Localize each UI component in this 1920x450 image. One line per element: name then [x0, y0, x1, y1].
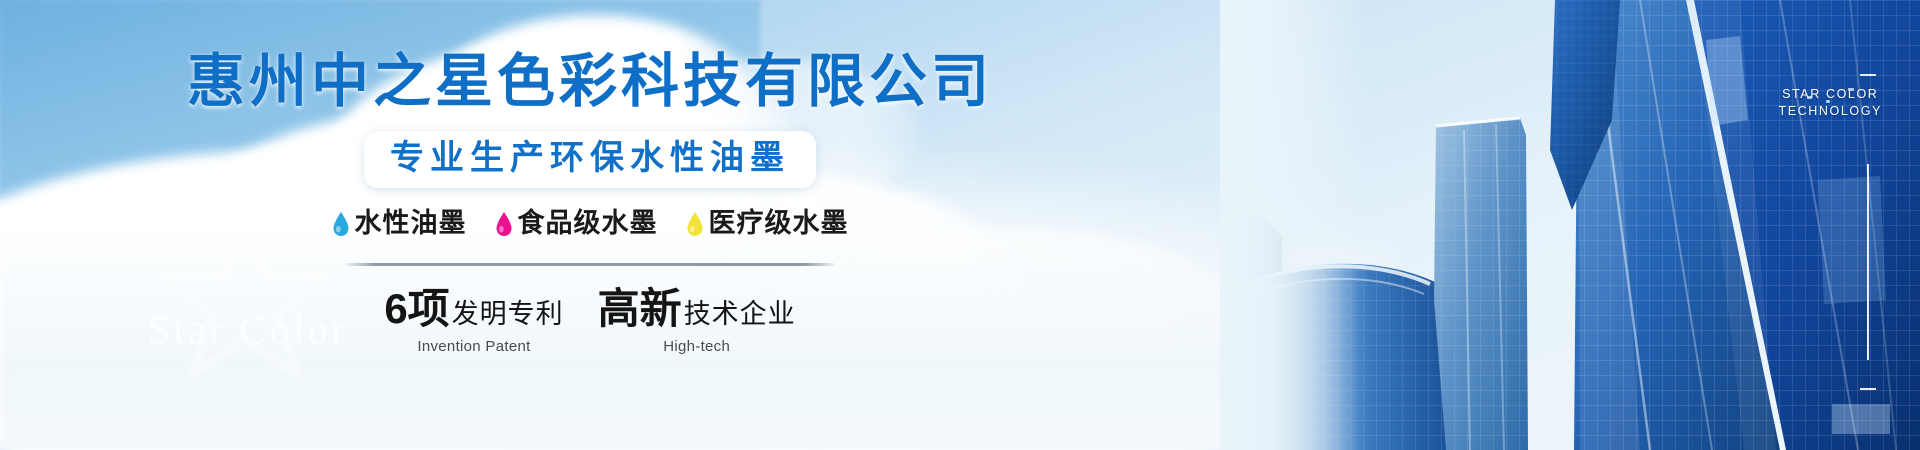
tagline-text: 专业生产环保水性油墨: [390, 140, 790, 177]
credential-rest: 技术企业: [684, 301, 796, 328]
credential-highlight: 6项: [384, 288, 449, 330]
credential-item: 高新技术企业High-tech: [598, 288, 796, 355]
credential-list: 6项发明专利Invention Patent高新技术企业High-tech: [384, 288, 795, 355]
ink-product-item: 水性油墨: [332, 210, 467, 237]
credential-english: High-tech: [663, 338, 730, 355]
water-drop-icon: [332, 211, 350, 237]
credential-item: 6项发明专利Invention Patent: [384, 288, 563, 355]
decor-dash-icon: [1807, 96, 1812, 99]
ink-product-label: 食品级水墨: [518, 210, 658, 237]
water-drop-icon: [495, 211, 513, 237]
ink-product-list: 水性油墨 食品级水墨 医疗级水墨: [332, 210, 849, 237]
skyscraper-photo: [1220, 0, 1920, 450]
promotional-banner: Star Color: [0, 0, 1920, 450]
watermark-line-1: STAR COLOR: [1778, 86, 1882, 103]
banner-content: 惠州中之星色彩科技有限公司 专业生产环保水性油墨 水性油墨 食品级水墨 医疗级水…: [0, 0, 1180, 450]
water-drop-icon: [686, 211, 704, 237]
ink-product-label: 水性油墨: [355, 210, 467, 237]
section-divider: [346, 263, 834, 266]
credential-highlight: 高新: [598, 288, 682, 330]
tick-mark-top-icon: [1860, 74, 1876, 76]
decor-dash-icon: [1848, 88, 1854, 91]
tagline-badge: 专业生产环保水性油墨: [364, 131, 816, 188]
watermark-line-2: TECHNOLOGY: [1778, 103, 1882, 120]
tick-mark-bottom-icon: [1860, 388, 1876, 390]
credential-english: Invention Patent: [417, 338, 530, 355]
ink-product-item: 食品级水墨: [495, 210, 658, 237]
credential-chinese: 高新技术企业: [598, 288, 796, 330]
ink-product-label: 医疗级水墨: [709, 210, 849, 237]
star-color-technology-watermark: STAR COLOR TECHNOLOGY: [1778, 86, 1882, 120]
ink-product-item: 医疗级水墨: [686, 210, 849, 237]
company-title: 惠州中之星色彩科技有限公司: [187, 52, 993, 113]
decor-dash-icon: [1826, 100, 1830, 103]
credential-rest: 发明专利: [452, 301, 564, 328]
credential-chinese: 6项发明专利: [384, 288, 563, 330]
vertical-rule-icon: [1867, 164, 1869, 360]
